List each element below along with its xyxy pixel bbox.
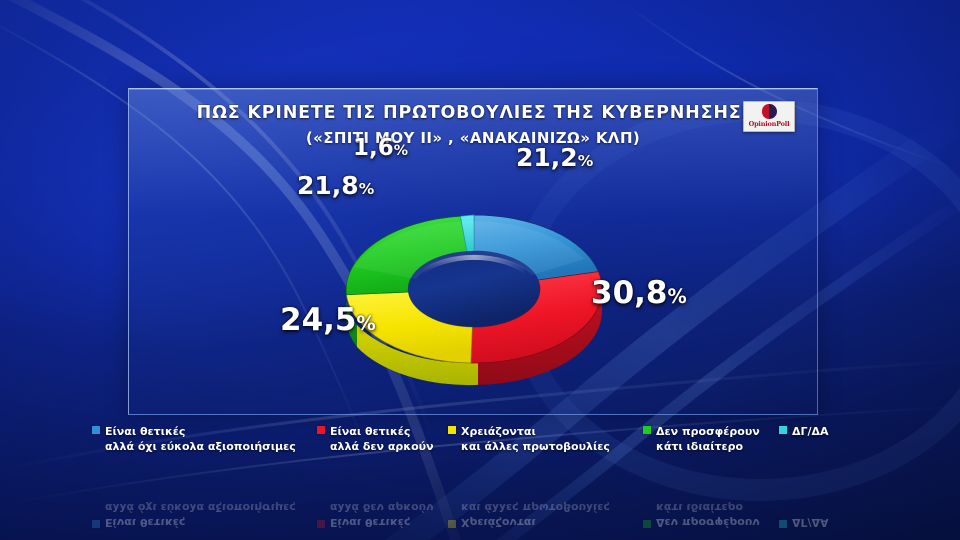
legend-swatch-blue — [92, 426, 100, 434]
value-label-cyan: 1,6% — [353, 137, 408, 160]
legend-label-line1: Χρειάζονται — [461, 425, 536, 438]
legend-swatch-red — [317, 426, 325, 434]
legend-label-line1: Είναι θετικές — [105, 425, 185, 438]
legend-item-positive-hard-to-use[interactable]: Είναι θετικές αλλά όχι εύκολα αξιοποιήσι… — [92, 424, 296, 454]
legend-item-offer-nothing-special[interactable]: Δεν προσφέρουν κάτι ιδιαίτερο — [643, 424, 760, 454]
logo-mark-right-half — [769, 104, 777, 119]
value-label-blue: 21,2% — [516, 145, 593, 170]
legend-swatch-cyan — [779, 426, 787, 434]
legend-label-line2: αλλά όχι εύκολα αξιοποιήσιμες — [92, 439, 296, 454]
donut-svg — [339, 197, 609, 397]
chart-legend: Είναι θετικές αλλά όχι εύκολα αξιοποιήσι… — [0, 424, 960, 470]
legend-label-line2: αλλά δεν αρκούν — [317, 439, 434, 454]
legend-label-line1: Είναι θετικές — [330, 425, 410, 438]
value-label-yellow: 24,5% — [280, 305, 376, 336]
logo-text: OpinionPoll — [749, 120, 790, 128]
legend-label-line2: και άλλες πρωτοβουλίες — [448, 439, 610, 454]
donut-graphic — [339, 197, 609, 397]
legend-label-line2: κάτι ιδιαίτερο — [643, 439, 760, 454]
legend-label-line1: Δεν προσφέρουν — [656, 425, 760, 438]
legend-item-more-initiatives-needed[interactable]: Χρειάζονται και άλλες πρωτοβουλίες — [448, 424, 610, 454]
opinionpoll-logo: OpinionPoll — [743, 101, 795, 132]
logo-mark-left-half — [762, 104, 770, 119]
legend-item-positive-not-enough[interactable]: Είναι θετικές αλλά δεν αρκούν — [317, 424, 434, 454]
legend-item-dk-na[interactable]: ΔΓ/ΔΑ — [779, 424, 829, 439]
value-label-green: 21,8% — [297, 173, 374, 198]
legend-swatch-green — [643, 426, 651, 434]
page-title: ΠΩΣ ΚΡΙΝΕΤΕ ΤΙΣ ΠΡΩΤΟΒΟΥΛΙΕΣ ΤΗΣ ΚΥΒΕΡΝΗ… — [129, 103, 817, 123]
legend-swatch-yellow — [448, 426, 456, 434]
chart-panel: ΠΩΣ ΚΡΙΝΕΤΕ ΤΙΣ ΠΡΩΤΟΒΟΥΛΙΕΣ ΤΗΣ ΚΥΒΕΡΝΗ… — [128, 88, 818, 415]
opinionpoll-mark-icon — [762, 104, 777, 119]
legend-label-line1: ΔΓ/ΔΑ — [792, 425, 829, 438]
donut-chart: 1,6% 21,2% 21,8% 30,8% 24,5% — [129, 137, 817, 414]
value-label-red: 30,8% — [591, 278, 687, 309]
